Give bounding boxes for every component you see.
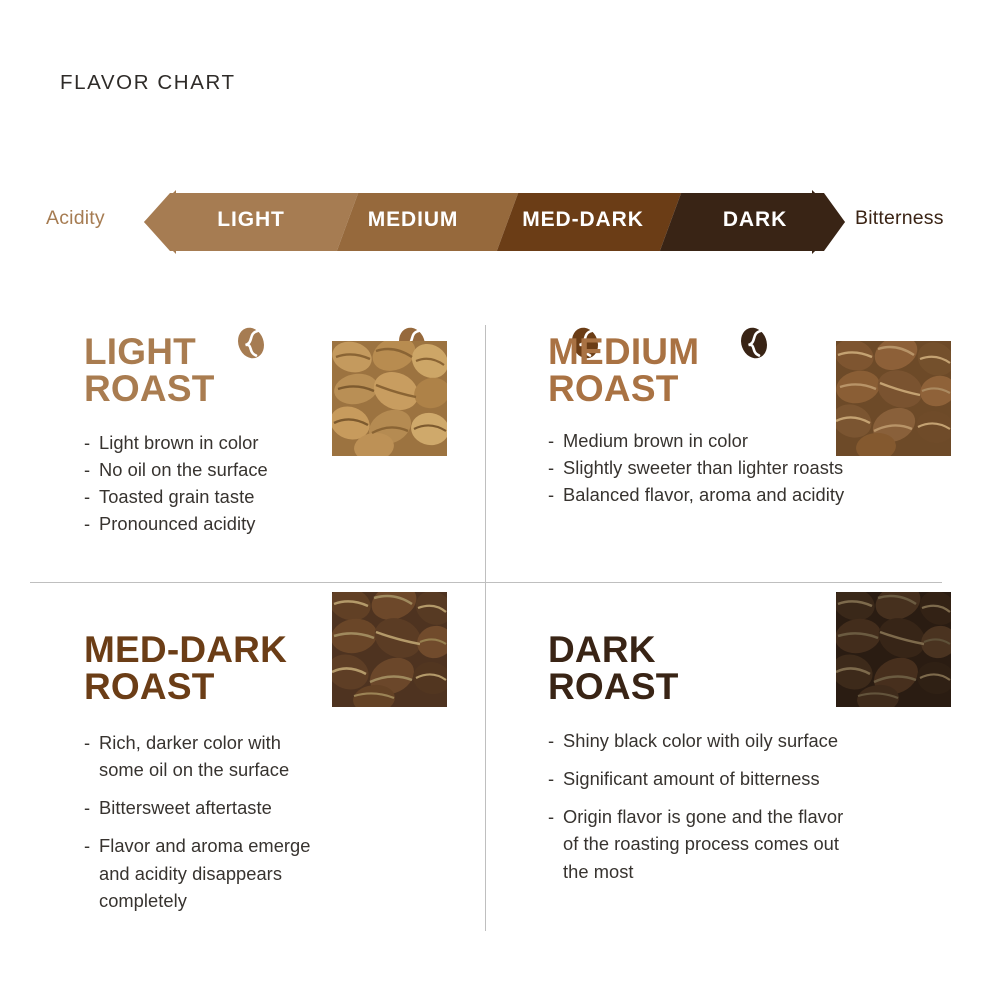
scale-label-medium: MEDIUM: [368, 208, 459, 232]
roast-card-light: LIGHT ROAST - Light brown in color - No …: [84, 334, 464, 538]
bullet-dash: -: [548, 454, 563, 481]
bullet-dash: -: [548, 481, 563, 508]
bullet-dash: -: [84, 456, 99, 483]
list-item: - Light brown in color: [84, 429, 464, 456]
list-item: - Bittersweet aftertaste: [84, 794, 464, 821]
bullet-dash: -: [84, 729, 99, 783]
roast-card-med-dark: MED-DARK ROAST - Rich, darker color with…: [84, 632, 464, 925]
roast-card-bullets: - Shiny black color with oily surface - …: [548, 727, 948, 884]
roast-card-bullets: - Light brown in color - No oil on the s…: [84, 429, 464, 537]
divider-vertical: [485, 325, 486, 931]
roast-card-bullets: - Rich, darker color with some oil on th…: [84, 729, 464, 913]
bullet-dash: -: [84, 832, 99, 913]
roast-card-heading: LIGHT ROAST: [84, 334, 464, 407]
roast-card-bullets: - Medium brown in color - Slightly sweet…: [548, 427, 948, 508]
bullet-dash: -: [548, 803, 563, 884]
bullet-dash: -: [84, 429, 99, 456]
list-item: - Slightly sweeter than lighter roasts: [548, 454, 948, 481]
axis-label-bitterness: Bitterness: [855, 207, 944, 230]
list-item: - Medium brown in color: [548, 427, 948, 454]
divider-horizontal: [30, 582, 942, 583]
list-item: - No oil on the surface: [84, 456, 464, 483]
flavor-chart-page: FLAVOR CHART: [0, 0, 1001, 1001]
list-item: - Flavor and aroma emerge and acidity di…: [84, 832, 464, 913]
bullet-dash: -: [84, 510, 99, 537]
list-item: - Significant amount of bitterness: [548, 765, 948, 792]
list-item: - Toasted grain taste: [84, 483, 464, 510]
bullet-dash: -: [84, 794, 99, 821]
roast-card-heading: MEDIUM ROAST: [548, 334, 948, 407]
roast-card-dark: DARK ROAST - Shiny black color with oily…: [548, 632, 948, 896]
list-item: - Pronounced acidity: [84, 510, 464, 537]
bullet-dash: -: [548, 427, 563, 454]
roast-scale-graphic: [0, 160, 1001, 272]
list-item: - Origin flavor is gone and the flavor o…: [548, 803, 948, 884]
bullet-dash: -: [548, 727, 563, 754]
scale-label-light: LIGHT: [217, 208, 285, 232]
roast-card-heading: MED-DARK ROAST: [84, 632, 464, 705]
roast-scale: [0, 160, 1001, 272]
bullet-dash: -: [548, 765, 563, 792]
list-item: - Rich, darker color with some oil on th…: [84, 729, 464, 783]
page-title: FLAVOR CHART: [60, 71, 236, 95]
scale-label-med-dark: MED-DARK: [522, 208, 644, 232]
roast-card-heading: DARK ROAST: [548, 632, 948, 705]
axis-label-acidity: Acidity: [46, 207, 105, 230]
list-item: - Shiny black color with oily surface: [548, 727, 948, 754]
bullet-dash: -: [84, 483, 99, 510]
list-item: - Balanced flavor, aroma and acidity: [548, 481, 948, 508]
scale-label-dark: DARK: [723, 208, 787, 232]
